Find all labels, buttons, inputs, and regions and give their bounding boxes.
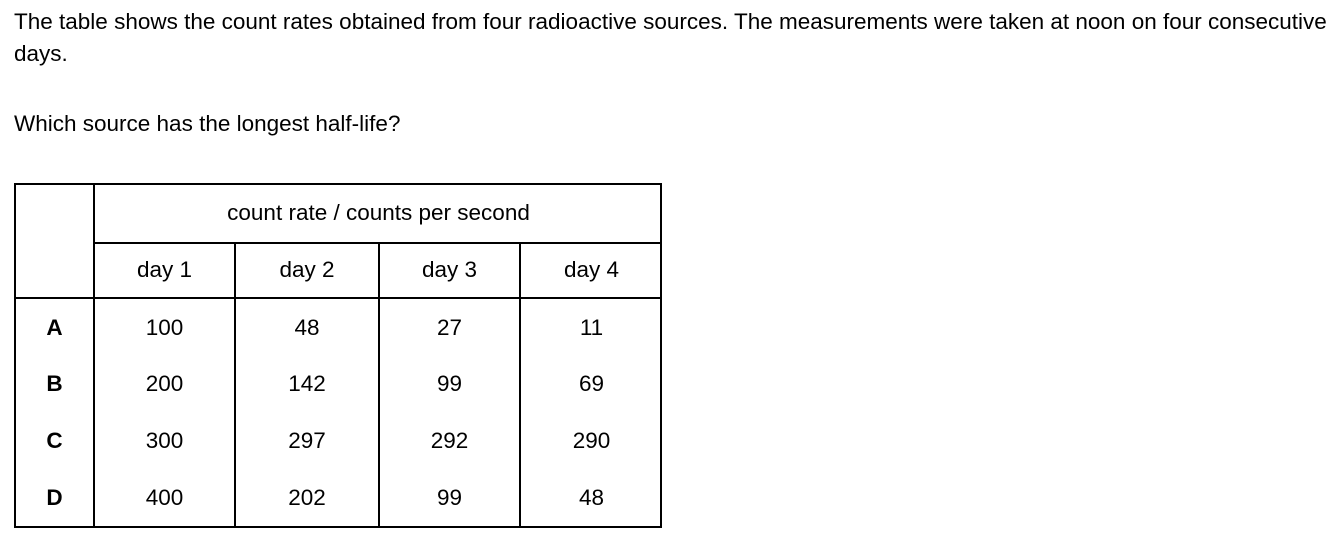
table-corner-cell: [16, 185, 94, 298]
column-header-day-2: day 2: [235, 243, 379, 299]
cell-d-day-1: 400: [94, 469, 235, 526]
cell-c-day-3: 292: [379, 413, 520, 470]
cell-b-day-1: 200: [94, 356, 235, 413]
question-text-block: The table shows the count rates obtained…: [14, 6, 1334, 70]
cell-a-day-4: 11: [520, 298, 662, 356]
cell-d-day-3: 99: [379, 469, 520, 526]
cell-b-day-3: 99: [379, 356, 520, 413]
question-prompt: Which source has the longest half-life?: [14, 108, 400, 140]
cell-c-day-2: 297: [235, 413, 379, 470]
count-rate-units-header: count rate / counts per second: [94, 185, 662, 243]
cell-a-day-3: 27: [379, 298, 520, 356]
cell-a-day-1: 100: [94, 298, 235, 356]
row-label-b: B: [16, 356, 94, 413]
table-header-row-days: day 1 day 2 day 3 day 4: [16, 243, 662, 299]
row-label-c: C: [16, 413, 94, 470]
column-header-day-4: day 4: [520, 243, 662, 299]
cell-c-day-4: 290: [520, 413, 662, 470]
count-rate-table: count rate / counts per second day 1 day…: [14, 183, 662, 528]
cell-b-day-4: 69: [520, 356, 662, 413]
cell-b-day-2: 142: [235, 356, 379, 413]
cell-a-day-2: 48: [235, 298, 379, 356]
table-row: B 200 142 99 69: [16, 356, 662, 413]
row-label-a: A: [16, 298, 94, 356]
column-header-day-1: day 1: [94, 243, 235, 299]
cell-d-day-4: 48: [520, 469, 662, 526]
cell-d-day-2: 202: [235, 469, 379, 526]
table-header-row-span: count rate / counts per second: [16, 185, 662, 243]
data-table: count rate / counts per second day 1 day…: [16, 185, 662, 526]
table-row: C 300 297 292 290: [16, 413, 662, 470]
table-row: D 400 202 99 48: [16, 469, 662, 526]
column-header-day-3: day 3: [379, 243, 520, 299]
intro-paragraph: The table shows the count rates obtained…: [14, 6, 1336, 70]
table-row: A 100 48 27 11: [16, 298, 662, 356]
cell-c-day-1: 300: [94, 413, 235, 470]
row-label-d: D: [16, 469, 94, 526]
